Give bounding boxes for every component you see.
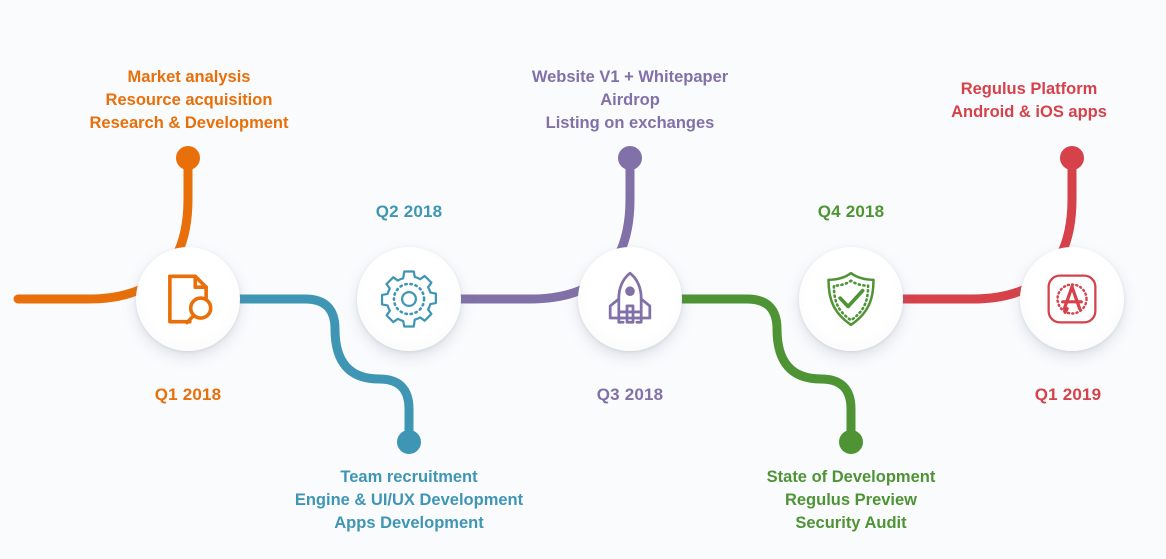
milestone-line: Market analysis bbox=[0, 66, 378, 89]
milestone-line: Listing on exchanges bbox=[440, 112, 820, 135]
milestone-line: Apps Development bbox=[219, 512, 599, 535]
milestone-line: Research & Development bbox=[0, 112, 378, 135]
milestone-text-q4-2018: State of Development Regulus Preview Sec… bbox=[661, 466, 1041, 535]
milestone-text-q2-2018: Team recruitment Engine & UI/UX Developm… bbox=[219, 466, 599, 535]
milestone-text-q1-2019: Regulus Platform Android & iOS apps bbox=[892, 78, 1166, 124]
milestone-line: Engine & UI/UX Development bbox=[219, 489, 599, 512]
gear-icon bbox=[378, 268, 440, 330]
milestone-line: State of Development bbox=[661, 466, 1041, 489]
milestone-line: Resource acquisition bbox=[0, 89, 378, 112]
milestone-node-q1-2018[interactable] bbox=[136, 247, 240, 351]
milestone-text-q1-2018: Market analysis Resource acquisition Res… bbox=[0, 66, 378, 135]
milestone-node-q3-2018[interactable] bbox=[578, 247, 682, 351]
app-store-icon bbox=[1043, 270, 1101, 328]
milestone-node-q1-2019[interactable] bbox=[1020, 247, 1124, 351]
milestone-line: Team recruitment bbox=[219, 466, 599, 489]
shield-check-icon bbox=[821, 269, 881, 329]
milestone-line: Security Audit bbox=[661, 512, 1041, 535]
milestone-line: Airdrop bbox=[440, 89, 820, 112]
rocket-icon bbox=[599, 268, 661, 330]
milestone-node-q4-2018[interactable] bbox=[799, 247, 903, 351]
milestone-line: Website V1 + Whitepaper bbox=[440, 66, 820, 89]
stage-label-q1-2019: Q1 2019 bbox=[968, 385, 1166, 405]
stage-label-q3-2018: Q3 2018 bbox=[530, 385, 730, 405]
milestone-line: Regulus Platform bbox=[892, 78, 1166, 101]
milestone-line: Regulus Preview bbox=[661, 489, 1041, 512]
milestone-text-q3-2018: Website V1 + Whitepaper Airdrop Listing … bbox=[440, 66, 820, 135]
stage-label-q4-2018: Q4 2018 bbox=[751, 202, 951, 222]
milestone-node-q2-2018[interactable] bbox=[357, 247, 461, 351]
milestone-line: Android & iOS apps bbox=[892, 101, 1166, 124]
stage-label-q1-2018: Q1 2018 bbox=[88, 385, 288, 405]
document-search-icon bbox=[159, 270, 217, 328]
stage-label-q2-2018: Q2 2018 bbox=[309, 202, 509, 222]
